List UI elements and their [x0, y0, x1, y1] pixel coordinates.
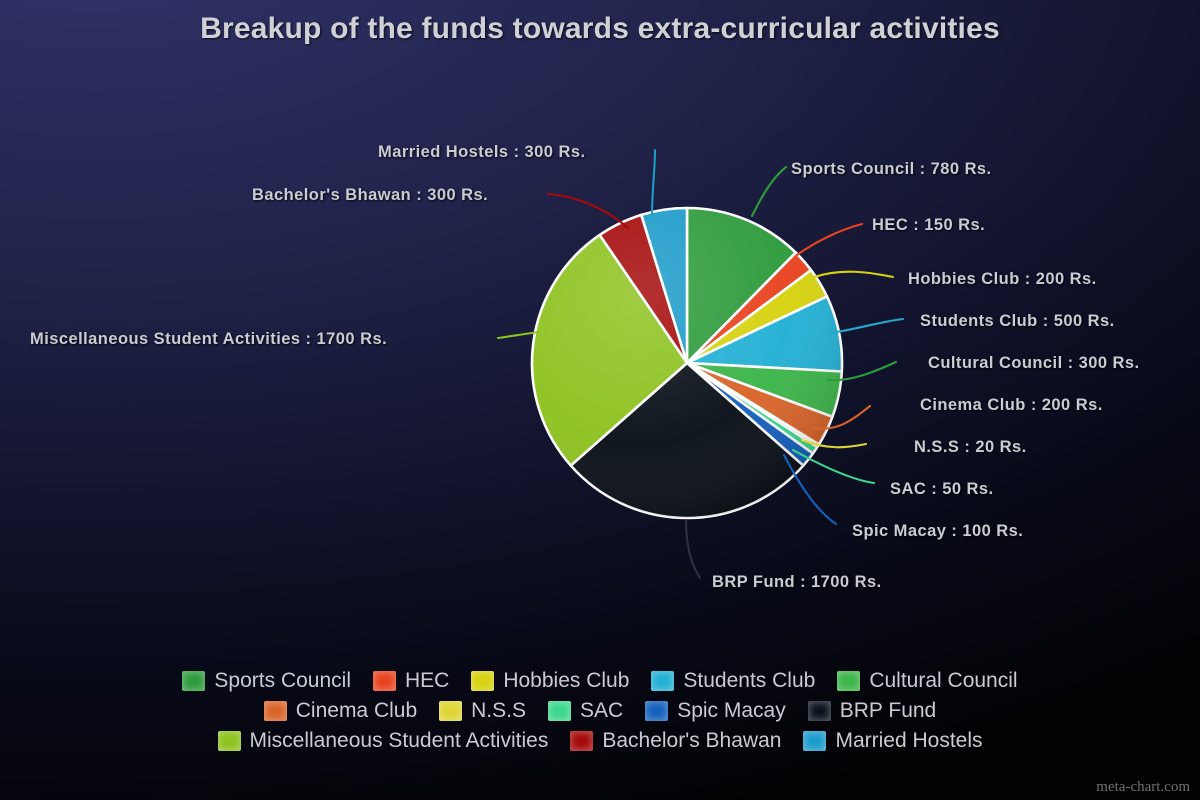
legend-label-n-s-s: N.S.S — [471, 698, 526, 724]
callout-sports-council: Sports Council : 780 Rs. — [791, 160, 992, 179]
chart-canvas: Breakup of the funds towards extra-curri… — [0, 0, 1200, 800]
callout-cinema-club: Cinema Club : 200 Rs. — [920, 396, 1103, 415]
legend-row-1: Sports CouncilHECHobbies ClubStudents Cl… — [171, 668, 1028, 694]
legend-item-cinema-club[interactable]: Cinema Club — [264, 698, 417, 724]
callout-hec: HEC : 150 Rs. — [872, 216, 985, 235]
leader-hobbies-club — [814, 272, 893, 277]
legend-label-sac: SAC — [580, 698, 623, 724]
legend-swatch-bachelor-s-bhawan-icon — [570, 731, 593, 751]
legend-item-students-club[interactable]: Students Club — [651, 668, 815, 694]
callout-married-hostels: Married Hostels : 300 Rs. — [378, 143, 586, 162]
chart-legend: Sports CouncilHECHobbies ClubStudents Cl… — [0, 668, 1200, 754]
legend-row-3: Miscellaneous Student ActivitiesBachelor… — [207, 728, 994, 754]
legend-swatch-cinema-club-icon — [264, 701, 287, 721]
legend-swatch-sac-icon — [548, 701, 571, 721]
legend-swatch-n-s-s-icon — [439, 701, 462, 721]
leader-married-hostels — [652, 150, 655, 215]
callout-bachelors-bhawan: Bachelor's Bhawan : 300 Rs. — [252, 186, 488, 205]
legend-item-miscellaneous-student-activities[interactable]: Miscellaneous Student Activities — [218, 728, 549, 754]
leader-brp-fund — [686, 520, 700, 578]
legend-item-hobbies-club[interactable]: Hobbies Club — [471, 668, 629, 694]
legend-item-bachelor-s-bhawan[interactable]: Bachelor's Bhawan — [570, 728, 781, 754]
legend-label-spic-macay: Spic Macay — [677, 698, 786, 724]
legend-label-hec: HEC — [405, 668, 449, 694]
legend-swatch-hobbies-club-icon — [471, 671, 494, 691]
legend-item-cultural-council[interactable]: Cultural Council — [837, 668, 1017, 694]
legend-label-students-club: Students Club — [683, 668, 815, 694]
pie-chart-area: Married Hostels : 300 Rs. Bachelor's Bha… — [0, 0, 1200, 660]
callout-spic-macay: Spic Macay : 100 Rs. — [852, 522, 1023, 541]
legend-label-bachelor-s-bhawan: Bachelor's Bhawan — [602, 728, 781, 754]
legend-label-cultural-council: Cultural Council — [869, 668, 1017, 694]
leader-bachelors-bhawan — [548, 194, 628, 228]
leader-hec — [797, 224, 862, 255]
legend-swatch-sports-council-icon — [182, 671, 205, 691]
pie-shading-overlay — [532, 208, 842, 518]
legend-swatch-students-club-icon — [651, 671, 674, 691]
legend-item-sac[interactable]: SAC — [548, 698, 623, 724]
legend-swatch-brp-fund-icon — [808, 701, 831, 721]
callout-hobbies-club: Hobbies Club : 200 Rs. — [908, 270, 1097, 289]
legend-item-spic-macay[interactable]: Spic Macay — [645, 698, 786, 724]
legend-label-married-hostels: Married Hostels — [835, 728, 982, 754]
callout-cultural-council: Cultural Council : 300 Rs. — [928, 354, 1140, 373]
legend-swatch-hec-icon — [373, 671, 396, 691]
legend-item-brp-fund[interactable]: BRP Fund — [808, 698, 937, 724]
legend-label-hobbies-club: Hobbies Club — [503, 668, 629, 694]
legend-swatch-married-hostels-icon — [803, 731, 826, 751]
callout-sac: SAC : 50 Rs. — [890, 480, 994, 499]
legend-item-married-hostels[interactable]: Married Hostels — [803, 728, 982, 754]
leader-misc-student-activities — [498, 332, 539, 338]
callout-nss: N.S.S : 20 Rs. — [914, 438, 1027, 457]
legend-swatch-miscellaneous-student-activities-icon — [218, 731, 241, 751]
legend-label-sports-council: Sports Council — [214, 668, 351, 694]
legend-label-brp-fund: BRP Fund — [840, 698, 937, 724]
legend-swatch-spic-macay-icon — [645, 701, 668, 721]
legend-item-sports-council[interactable]: Sports Council — [182, 668, 351, 694]
watermark: meta-chart.com — [1096, 779, 1190, 796]
legend-item-hec[interactable]: HEC — [373, 668, 449, 694]
legend-swatch-cultural-council-icon — [837, 671, 860, 691]
legend-item-n-s-s[interactable]: N.S.S — [439, 698, 526, 724]
leader-students-club — [830, 319, 903, 333]
legend-label-cinema-club: Cinema Club — [296, 698, 417, 724]
leader-sports-council — [752, 167, 786, 216]
callout-misc-student-activities: Miscellaneous Student Activities : 1700 … — [30, 330, 387, 349]
legend-row-2: Cinema ClubN.S.SSACSpic MacayBRP Fund — [253, 698, 947, 724]
callout-brp-fund: BRP Fund : 1700 Rs. — [712, 573, 882, 592]
callout-students-club: Students Club : 500 Rs. — [920, 312, 1115, 331]
legend-label-miscellaneous-student-activities: Miscellaneous Student Activities — [250, 728, 549, 754]
